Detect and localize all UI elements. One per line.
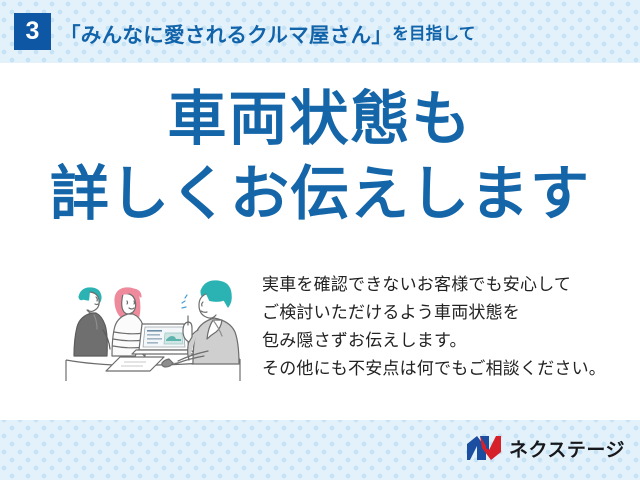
- footer: ネクステージ: [0, 420, 640, 480]
- consultation-illustration: [58, 268, 248, 383]
- body-copy-line-1: 実車を確認できないお客様でも安心して: [262, 271, 622, 299]
- body-copy: 実車を確認できないお客様でも安心して ご検討いただけるよう車両状態を 包み隠さず…: [262, 271, 622, 383]
- slide-root: 3 「みんなに愛されるクルマ屋さん」 を目指して 車両状態も 詳しくお伝えします: [0, 0, 640, 480]
- step-number-badge: 3: [14, 13, 51, 50]
- headline: 車両状態も 詳しくお伝えします: [0, 90, 640, 224]
- header: 3 「みんなに愛されるクルマ屋さん」 を目指して: [0, 0, 640, 63]
- header-title-quoted: 「みんなに愛されるクルマ屋さん」: [60, 18, 392, 48]
- body-copy-line-4: その他にも不安点は何でもご相談ください。: [262, 355, 622, 383]
- headline-line-2: 詳しくお伝えします: [0, 165, 640, 224]
- brand-name: ネクステージ: [509, 435, 625, 462]
- header-title-tail: を目指して: [392, 20, 476, 45]
- header-title: 「みんなに愛されるクルマ屋さん」 を目指して: [60, 14, 476, 51]
- body-copy-line-3: 包み隠さずお伝えします。: [262, 327, 622, 355]
- consultation-illustration-svg: [58, 268, 248, 383]
- nextage-n-mark-icon: [466, 435, 502, 461]
- lower-section: 実車を確認できないお客様でも安心して ご検討いただけるよう車両状態を 包み隠さず…: [0, 268, 640, 393]
- body-copy-line-2: ご検討いただけるよう車両状態を: [262, 299, 622, 327]
- headline-line-1: 車両状態も: [0, 90, 640, 149]
- brand-logo: ネクステージ: [466, 433, 625, 463]
- content-panel: 車両状態も 詳しくお伝えします: [0, 63, 640, 420]
